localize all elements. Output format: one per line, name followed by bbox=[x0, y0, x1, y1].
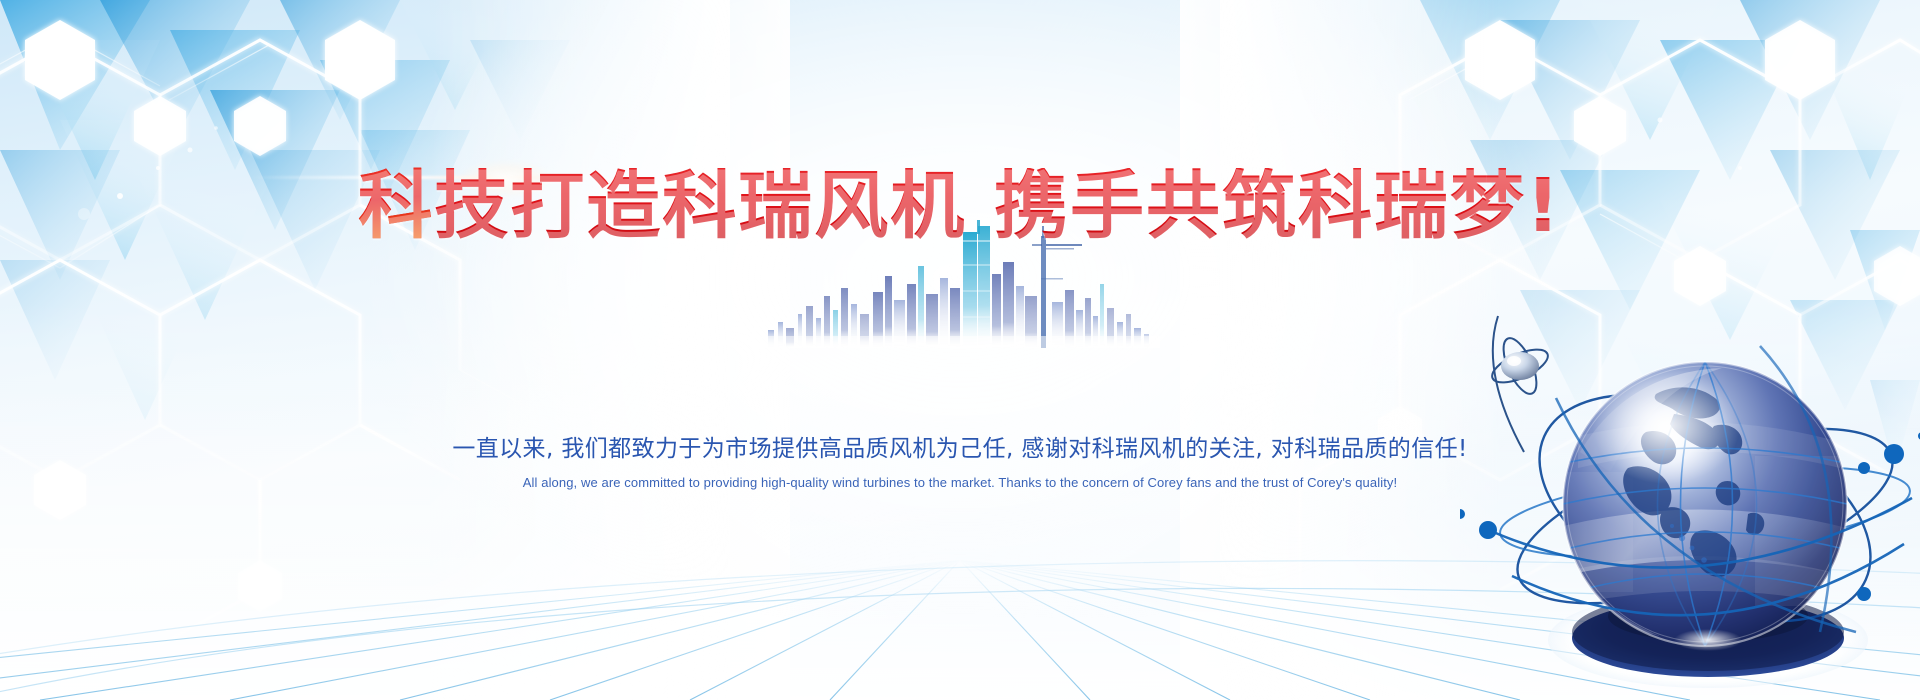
headline-container: 科技打造科瑞风机 携手共筑科瑞梦! bbox=[0, 118, 1920, 295]
hexagon-network-pattern bbox=[0, 0, 1920, 700]
globe-sphere bbox=[1563, 362, 1851, 651]
subtitle-chinese: 一直以来, 我们都致力于为市场提供高品质风机为己任, 感谢对科瑞风机的关注, 对… bbox=[0, 429, 1920, 463]
banner-root: 科技打造科瑞风机 携手共筑科瑞梦! 一直以来, 我们都致力于为市场提供高品质风机… bbox=[0, 0, 1920, 700]
headline-rest: 技打造科瑞风机 携手共筑科瑞梦! bbox=[434, 163, 1562, 249]
perspective-grid-floor bbox=[0, 0, 1920, 700]
subtitle-english: All along, we are committed to providing… bbox=[0, 475, 1920, 490]
triangle-shard-pattern bbox=[0, 0, 1920, 700]
headline-first-char: 科 bbox=[358, 163, 434, 249]
center-glow bbox=[370, 0, 1550, 618]
page-title: 科技打造科瑞风机 携手共筑科瑞梦! bbox=[358, 168, 1562, 246]
globe-base bbox=[1548, 590, 1868, 688]
